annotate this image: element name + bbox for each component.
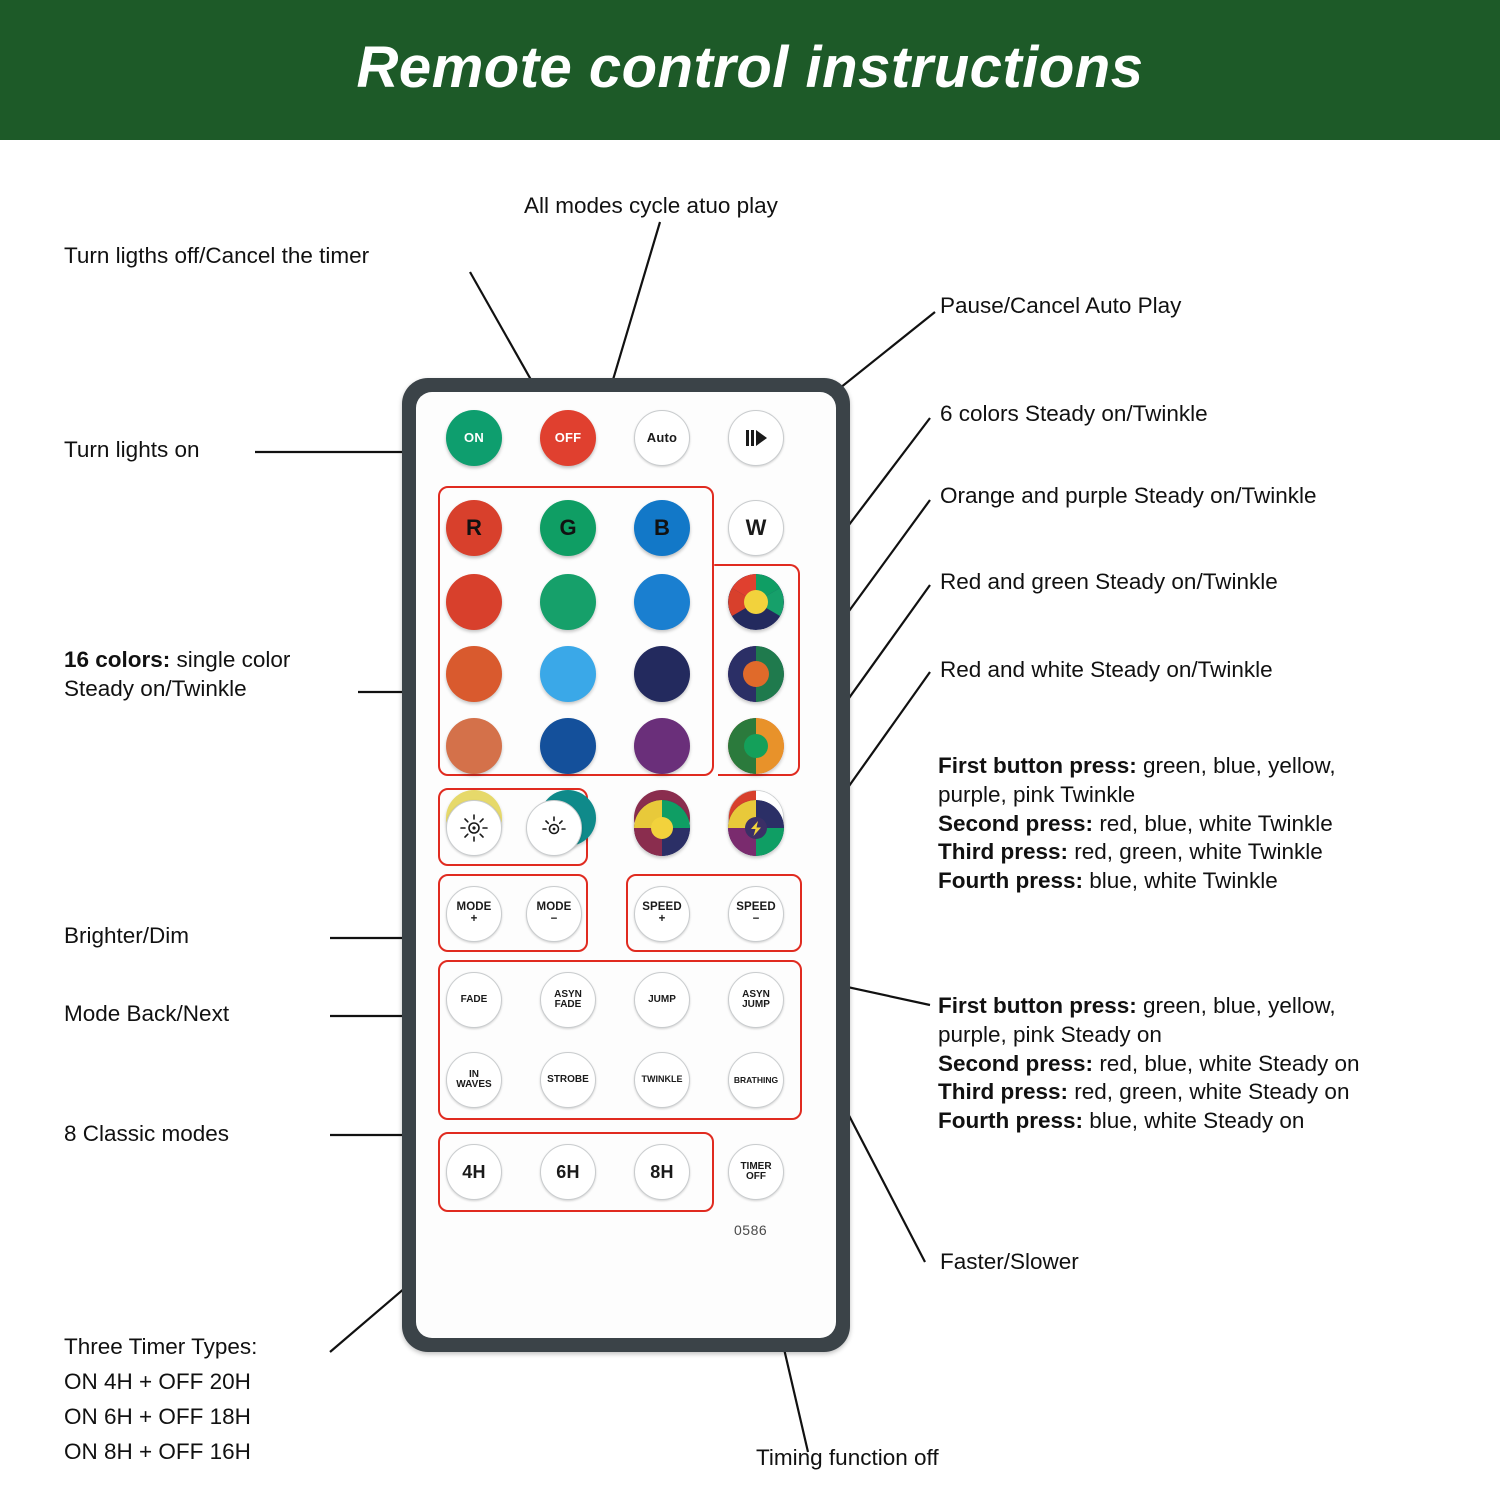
button-strobe[interactable]: STROBE [540,1052,596,1108]
button-speed-minus-sign: − [753,914,760,926]
annotation-six-colors: 6 colors Steady on/Twinkle [940,400,1208,429]
annotation-sixteen-colors: 16 colors: single color Steady on/Twinkl… [64,646,290,704]
color-swatch[interactable] [634,646,690,702]
steady-l4-bold: Third press: [938,1079,1068,1104]
button-pause-play[interactable] [728,410,784,466]
annotation-orange-purple: Orange and purple Steady on/Twinkle [940,482,1317,511]
button-color-blue-label: B [654,517,670,539]
timer-types-l1: Three Timer Types: [64,1334,257,1359]
button-mode-plus-sign: + [471,914,478,926]
button-asyn-fade-line2: FADE [555,1000,582,1010]
button-brathing[interactable]: BRATHING [728,1052,784,1108]
button-jump-label: JUMP [648,995,676,1005]
multi-steady-icon [728,800,784,856]
twinkle-l3-rest: red, blue, white Twinkle [1093,811,1333,836]
button-asyn-fade[interactable]: ASYN FADE [540,972,596,1028]
button-color-white-label: W [746,517,767,539]
steady-l4-rest: red, green, white Steady on [1068,1079,1349,1104]
annotation-pause-cancel: Pause/Cancel Auto Play [940,292,1181,321]
annotation-twinkle-presses: First button press: green, blue, yellow,… [938,752,1478,896]
page-title: Remote control instructions [0,34,1500,101]
button-asyn-jump-line2: JUMP [742,1000,770,1010]
steady-l5-rest: blue, white Steady on [1083,1108,1304,1133]
button-on-label: ON [464,431,484,444]
annotation-brighter-dim: Brighter/Dim [64,922,189,951]
color-swatch[interactable] [540,646,596,702]
twinkle-l5-bold: Fourth press: [938,868,1083,893]
orange-purple-icon [728,646,784,702]
button-mode-minus[interactable]: MODE − [526,886,582,942]
button-timer-off-line2: OFF [746,1172,766,1182]
color-swatch[interactable] [634,574,690,630]
color-swatch[interactable] [540,574,596,630]
color-swatch[interactable] [446,574,502,630]
color-swatch[interactable] [540,718,596,774]
button-multi-twinkle[interactable] [634,800,690,856]
button-multi-steady[interactable] [728,800,784,856]
button-auto-label: Auto [647,431,677,444]
annotation-red-green: Red and green Steady on/Twinkle [940,568,1278,597]
button-off[interactable]: OFF [540,410,596,466]
annotation-timing-off: Timing function off [756,1444,939,1473]
annotation-all-modes: All modes cycle atuo play [524,192,778,221]
button-fade-label: FADE [461,995,488,1005]
color-swatch[interactable] [634,718,690,774]
annotation-sixteen-colors-line2: Steady on/Twinkle [64,676,247,701]
annotation-turn-on: Turn lights on [64,436,199,465]
button-speed-plus[interactable]: SPEED + [634,886,690,942]
timer-types-l4: ON 8H + OFF 16H [64,1439,251,1464]
timer-types-l2: ON 4H + OFF 20H [64,1369,251,1394]
button-orange-purple[interactable] [728,646,784,702]
annotation-mode-back-next: Mode Back/Next [64,1000,229,1029]
annotation-faster-slower: Faster/Slower [940,1248,1079,1277]
twinkle-l2: purple, pink Twinkle [938,782,1135,807]
multi-twinkle-icon [634,800,690,856]
button-timer-4h-label: 4H [462,1163,485,1181]
steady-l3-bold: Second press: [938,1051,1093,1076]
button-on[interactable]: ON [446,410,502,466]
button-color-green-label: G [559,517,576,539]
page-header: Remote control instructions [0,0,1500,140]
steady-l5-bold: Fourth press: [938,1108,1083,1133]
twinkle-l4-rest: red, green, white Twinkle [1068,839,1323,864]
twinkle-l3-bold: Second press: [938,811,1093,836]
button-timer-6h-label: 6H [556,1163,579,1181]
button-timer-off[interactable]: TIMER OFF [728,1144,784,1200]
outline-mixed-top [714,564,722,566]
button-color-green[interactable]: G [540,500,596,556]
annotation-steady-presses: First button press: green, blue, yellow,… [938,992,1478,1136]
timer-types-l3: ON 6H + OFF 18H [64,1404,251,1429]
button-color-red-label: R [466,517,482,539]
button-brathing-label: BRATHING [734,1076,778,1085]
twinkle-l5-rest: blue, white Twinkle [1083,868,1278,893]
button-speed-minus[interactable]: SPEED − [728,886,784,942]
button-twinkle[interactable]: TWINKLE [634,1052,690,1108]
annotation-classic-modes: 8 Classic modes [64,1120,229,1149]
button-six-colors[interactable] [728,574,784,630]
button-strobe-label: STROBE [547,1075,589,1085]
button-color-white[interactable]: W [728,500,784,556]
button-speed-plus-sign: + [659,914,666,926]
button-dim[interactable] [526,800,582,856]
steady-l3-rest: red, blue, white Steady on [1093,1051,1359,1076]
button-mode-minus-sign: − [551,914,558,926]
annotation-sixteen-colors-rest: single color [170,647,290,672]
twinkle-l1-bold: First button press: [938,753,1137,778]
button-twinkle-label: TWINKLE [642,1075,683,1084]
steady-l2: purple, pink Steady on [938,1022,1162,1047]
button-fade[interactable]: FADE [446,972,502,1028]
steady-l1-rest: green, blue, yellow, [1137,993,1336,1018]
remote-control: ON OFF Auto R G B W [402,378,850,1352]
button-timer-4h[interactable]: 4H [446,1144,502,1200]
annotation-timer-types: Three Timer Types: ON 4H + OFF 20H ON 6H… [64,1330,257,1470]
button-color-red[interactable]: R [446,500,502,556]
annotation-red-white: Red and white Steady on/Twinkle [940,656,1273,685]
button-brighter[interactable] [446,800,502,856]
button-auto[interactable]: Auto [634,410,690,466]
six-colors-icon [728,574,784,630]
button-asyn-jump[interactable]: ASYN JUMP [728,972,784,1028]
twinkle-l1-rest: green, blue, yellow, [1137,753,1336,778]
red-green-icon [728,718,784,774]
color-swatch[interactable] [446,646,502,702]
model-number: 0586 [734,1222,767,1238]
color-swatch[interactable] [446,718,502,774]
annotation-sixteen-colors-bold: 16 colors: [64,647,170,672]
button-mode-plus[interactable]: MODE + [446,886,502,942]
button-in-waves[interactable]: IN WAVES [446,1052,502,1108]
remote-face: ON OFF Auto R G B W [416,392,836,1338]
brightness-down-icon [539,813,569,843]
button-in-waves-line2: WAVES [456,1080,491,1090]
button-timer-8h[interactable]: 8H [634,1144,690,1200]
annotation-turn-off: Turn ligths off/Cancel the timer [64,242,369,271]
button-timer-8h-label: 8H [650,1163,673,1181]
brightness-up-icon [459,813,489,843]
button-off-label: OFF [555,431,582,444]
button-timer-6h[interactable]: 6H [540,1144,596,1200]
button-color-blue[interactable]: B [634,500,690,556]
button-jump[interactable]: JUMP [634,972,690,1028]
twinkle-l4-bold: Third press: [938,839,1068,864]
pause-play-icon [746,430,767,446]
steady-l1-bold: First button press: [938,993,1137,1018]
button-red-green[interactable] [728,718,784,774]
